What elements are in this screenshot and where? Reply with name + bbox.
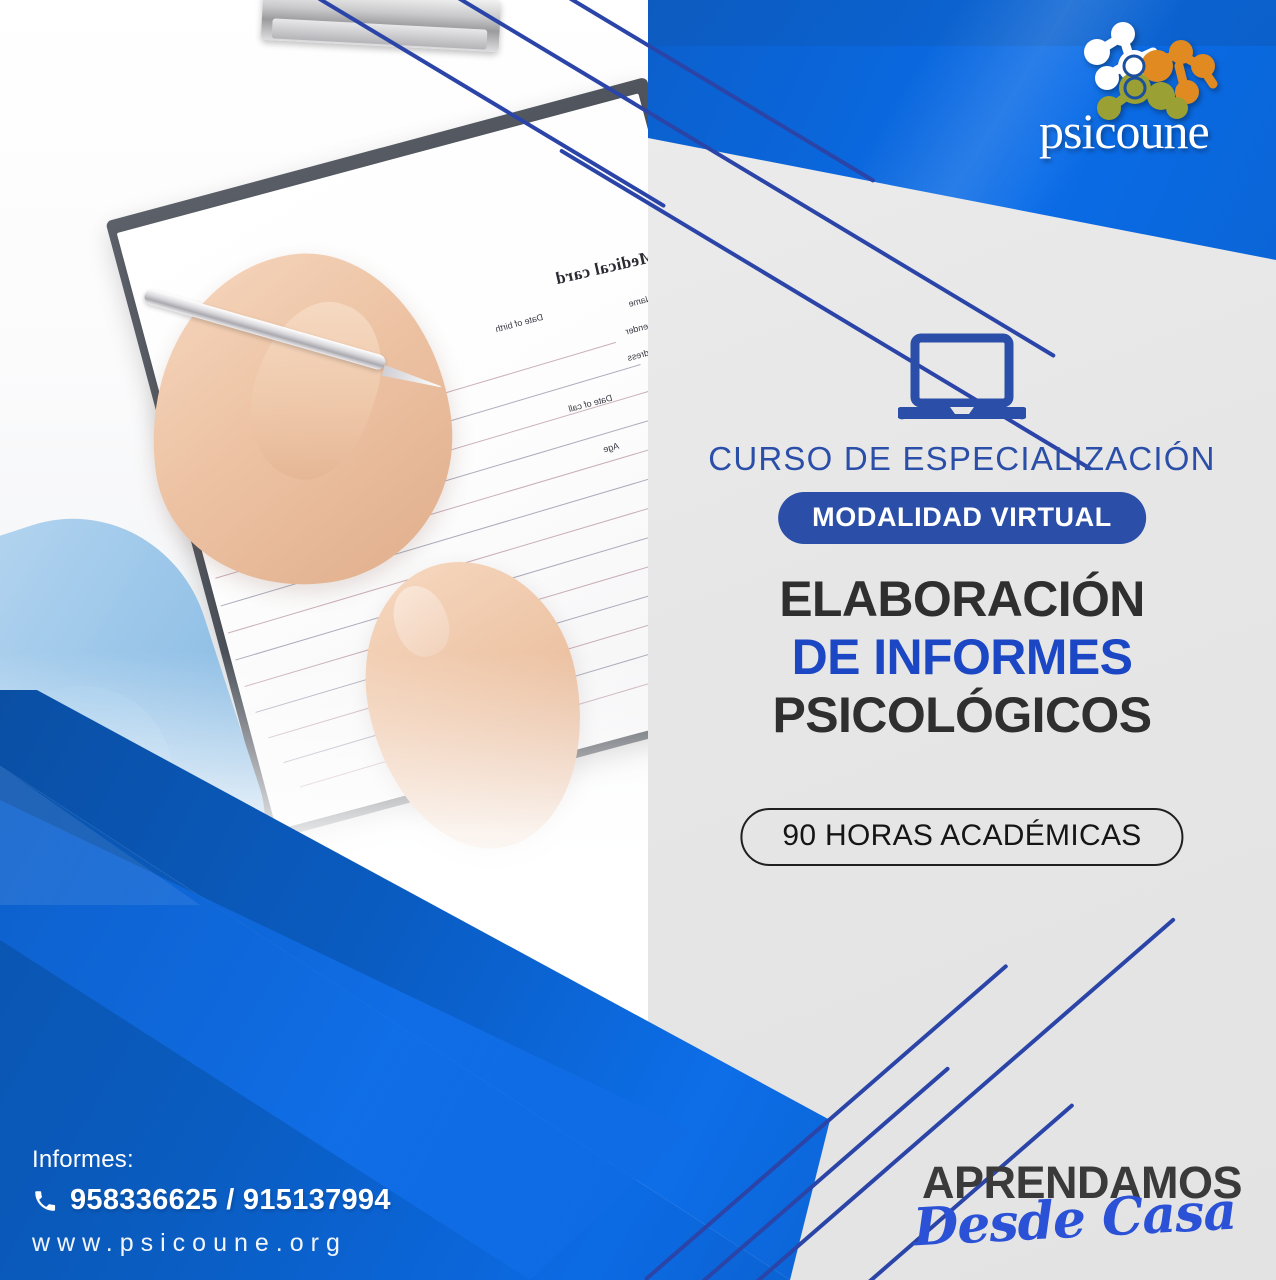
- form-title: Medical card: [554, 247, 648, 289]
- form-label-dob: Date of birth: [494, 312, 544, 334]
- form-label-address: Address: [626, 345, 648, 363]
- form-label-name: Name: [627, 293, 648, 309]
- modality-badge: MODALIDAD VIRTUAL: [778, 492, 1146, 544]
- contact-block: Informes: 958336625 / 915137994 www.psic…: [32, 1146, 391, 1258]
- contact-phone-numbers: 958336625 / 915137994: [70, 1184, 391, 1217]
- form-label-gender: Gender: [624, 319, 648, 336]
- course-info-panel: CURSO DE ESPECIALIZACIÓN MODALIDAD VIRTU…: [648, 0, 1276, 1280]
- contact-label: Informes:: [32, 1146, 391, 1174]
- course-title-line-1: ELABORACIÓN: [648, 570, 1276, 628]
- poster-canvas: Medical card Name Date of birth Gender A…: [0, 0, 1276, 1280]
- laptop-icon: [898, 333, 1026, 425]
- course-title: ELABORACIÓN DE INFORMES PSICOLÓGICOS: [648, 570, 1276, 744]
- phone-icon: [32, 1188, 58, 1214]
- contact-website[interactable]: www.psicoune.org: [32, 1229, 391, 1258]
- contact-phone[interactable]: 958336625 / 915137994: [32, 1184, 391, 1217]
- slogan-line-2: Desde Casa: [912, 1188, 1237, 1253]
- academic-hours-badge: 90 HORAS ACADÉMICAS: [740, 808, 1183, 866]
- slogan: APRENDAMOS Desde Casa: [913, 1160, 1242, 1244]
- laptop-icon-wrap: [648, 333, 1276, 425]
- course-kicker: CURSO DE ESPECIALIZACIÓN: [648, 440, 1276, 478]
- course-title-line-2: DE INFORMES: [648, 628, 1276, 686]
- course-title-line-3: PSICOLÓGICOS: [648, 686, 1276, 744]
- form-label-age: Age: [602, 441, 620, 455]
